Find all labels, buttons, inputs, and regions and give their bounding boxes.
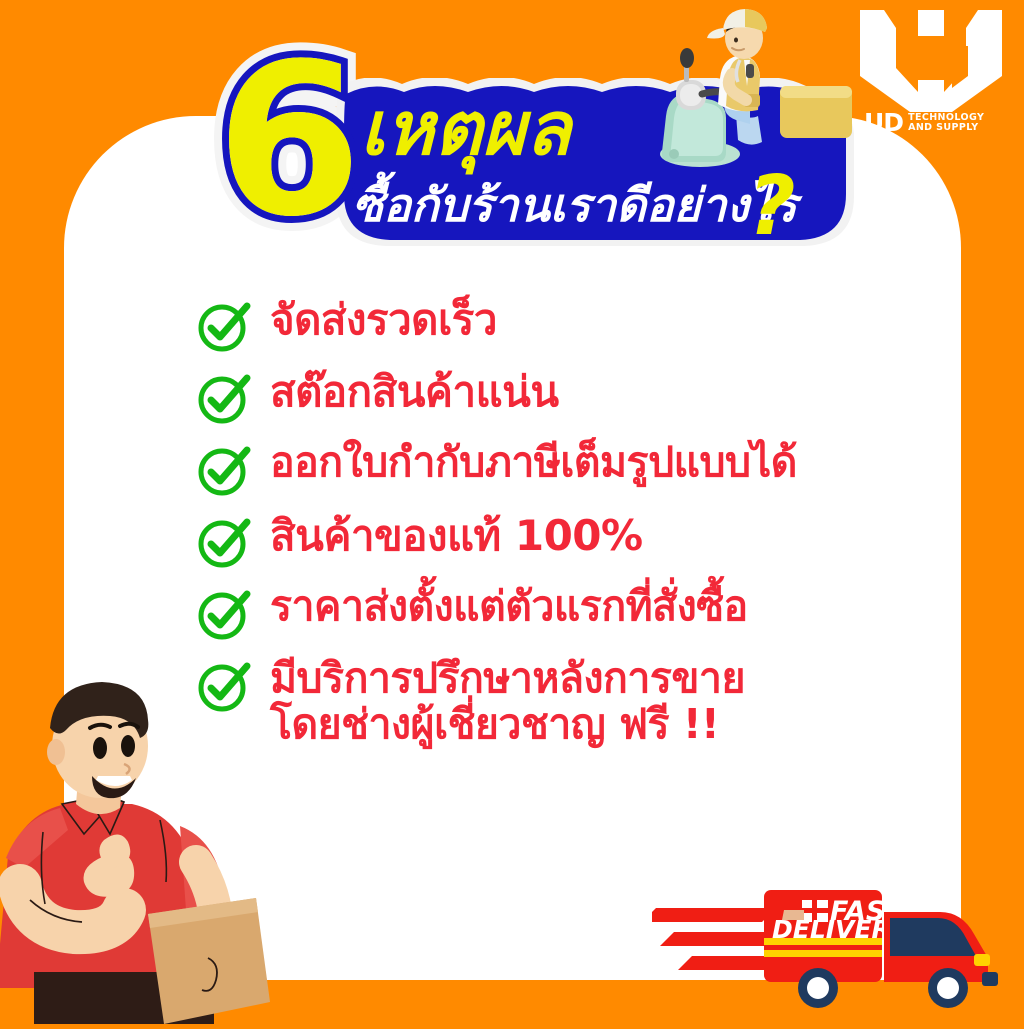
list-item-label-continued: โดยช่างผู้เชี่ยวชาญ ฟรี !! [270,702,745,748]
list-item: ออกใบกำกับภาษีเต็มรูปแบบได้ [196,440,916,498]
list-item-label: ออกใบกำกับภาษีเต็มรูปแบบได้ [270,440,797,486]
list-item-label: สินค้าของแท้ 100% [270,512,643,559]
list-item-label: มีบริการปรึกษาหลังการขาย [270,656,745,702]
list-item-label: จัดส่งรวดเร็ว [270,296,497,343]
list-item: สินค้าของแท้ 100% [196,512,916,570]
scooter-delivery-rider-illustration [640,2,870,182]
headline-line1: เหตุผล [360,92,571,166]
list-item: จัดส่งรวดเร็ว [196,296,916,354]
check-circle-icon [196,586,252,642]
headline-number: 6 [216,36,362,246]
headline-line2: ซื้อกับร้านเราดีอย่างไร [352,182,797,228]
fast-delivery-truck-badge: FAST DELIVERY [652,872,1024,1024]
speed-lines-icon [652,908,780,970]
list-item: ราคาส่งตั้งแต่ตัวแรกที่สั่งซื้อ [196,584,916,642]
headline-block: 6 6 เหตุผล ซื้อกับร้านเราดีอย่างไร ? [0,0,1024,290]
list-item-label: ราคาส่งตั้งแต่ตัวแรกที่สั่งซื้อ [270,584,748,630]
list-item: สต๊อกสินค้าแน่น [196,368,916,426]
check-circle-icon [196,298,252,354]
delivery-man-illustration [0,672,300,1024]
headline-question-mark: ? [748,166,796,248]
list-item-label: สต๊อกสินค้าแน่น [270,368,559,415]
check-circle-icon [196,442,252,498]
benefits-list: จัดส่งรวดเร็ว สต๊อกสินค้าแน่น ออกใบกำกับ… [196,296,916,762]
check-circle-icon [196,514,252,570]
check-circle-icon [196,370,252,426]
list-item: มีบริการปรึกษาหลังการขาย โดยช่างผู้เชี่ย… [196,656,916,748]
